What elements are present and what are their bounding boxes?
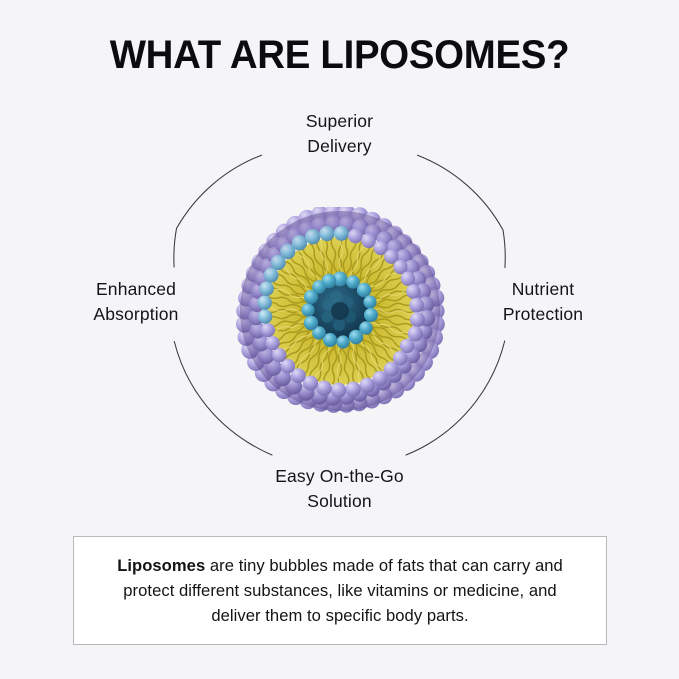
phospholipid-head: [348, 229, 363, 244]
definition-box: Liposomes are tiny bubbles made of fats …: [73, 536, 607, 645]
phospholipid-head: [260, 323, 274, 337]
phospholipid-head: [399, 339, 413, 353]
page-title: WHAT ARE LIPOSOMES?: [14, 33, 666, 78]
liposome-infographic: WHAT ARE LIPOSOMES?: [0, 0, 679, 679]
phospholipid-head: [409, 312, 424, 327]
phospholipid-head: [359, 378, 374, 393]
callout-label-easy-on-the-go-solution: Easy On-the-Go Solution: [190, 464, 490, 514]
phospholipid-head: [319, 226, 334, 241]
phospholipid-head: [330, 383, 345, 398]
radial-diagram: Superior Delivery Nutrient Protection Ea…: [0, 95, 679, 525]
callout-label-nutrient-protection: Nutrient Protection: [443, 277, 643, 327]
phospholipid-head: [333, 226, 348, 241]
phospholipid-head: [272, 348, 286, 362]
ring-arc-bottom-right: [406, 445, 428, 456]
phospholipid-head: [257, 295, 272, 310]
phospholipid-head: [407, 326, 422, 341]
phospholipid-head: [259, 281, 274, 296]
phospholipid-head: [400, 272, 414, 286]
phospholipid-head: [406, 284, 421, 299]
callout-label-enhanced-absorption: Enhanced Absorption: [36, 277, 236, 327]
phospholipid-head: [361, 234, 376, 249]
phospholipid-head: [372, 371, 387, 386]
phospholipid-head: [345, 382, 360, 397]
phospholipid-head: [316, 380, 331, 395]
definition-lead-term: Liposomes: [117, 556, 205, 575]
liposome-illustration: [232, 207, 448, 415]
definition-text: Liposomes are tiny bubbles made of fats …: [74, 553, 606, 628]
ring-arc-left-upper: [174, 229, 177, 268]
phospholipid-head: [258, 309, 272, 323]
ring-arc-right-upper: [503, 230, 505, 268]
phospholipid-head: [305, 229, 320, 244]
phospholipid-head: [265, 336, 279, 350]
phospholipid-head: [291, 235, 306, 250]
callout-label-superior-delivery: Superior Delivery: [210, 109, 470, 159]
ring-arc-bottom-left: [251, 444, 273, 455]
phospholipid-head: [409, 298, 424, 313]
